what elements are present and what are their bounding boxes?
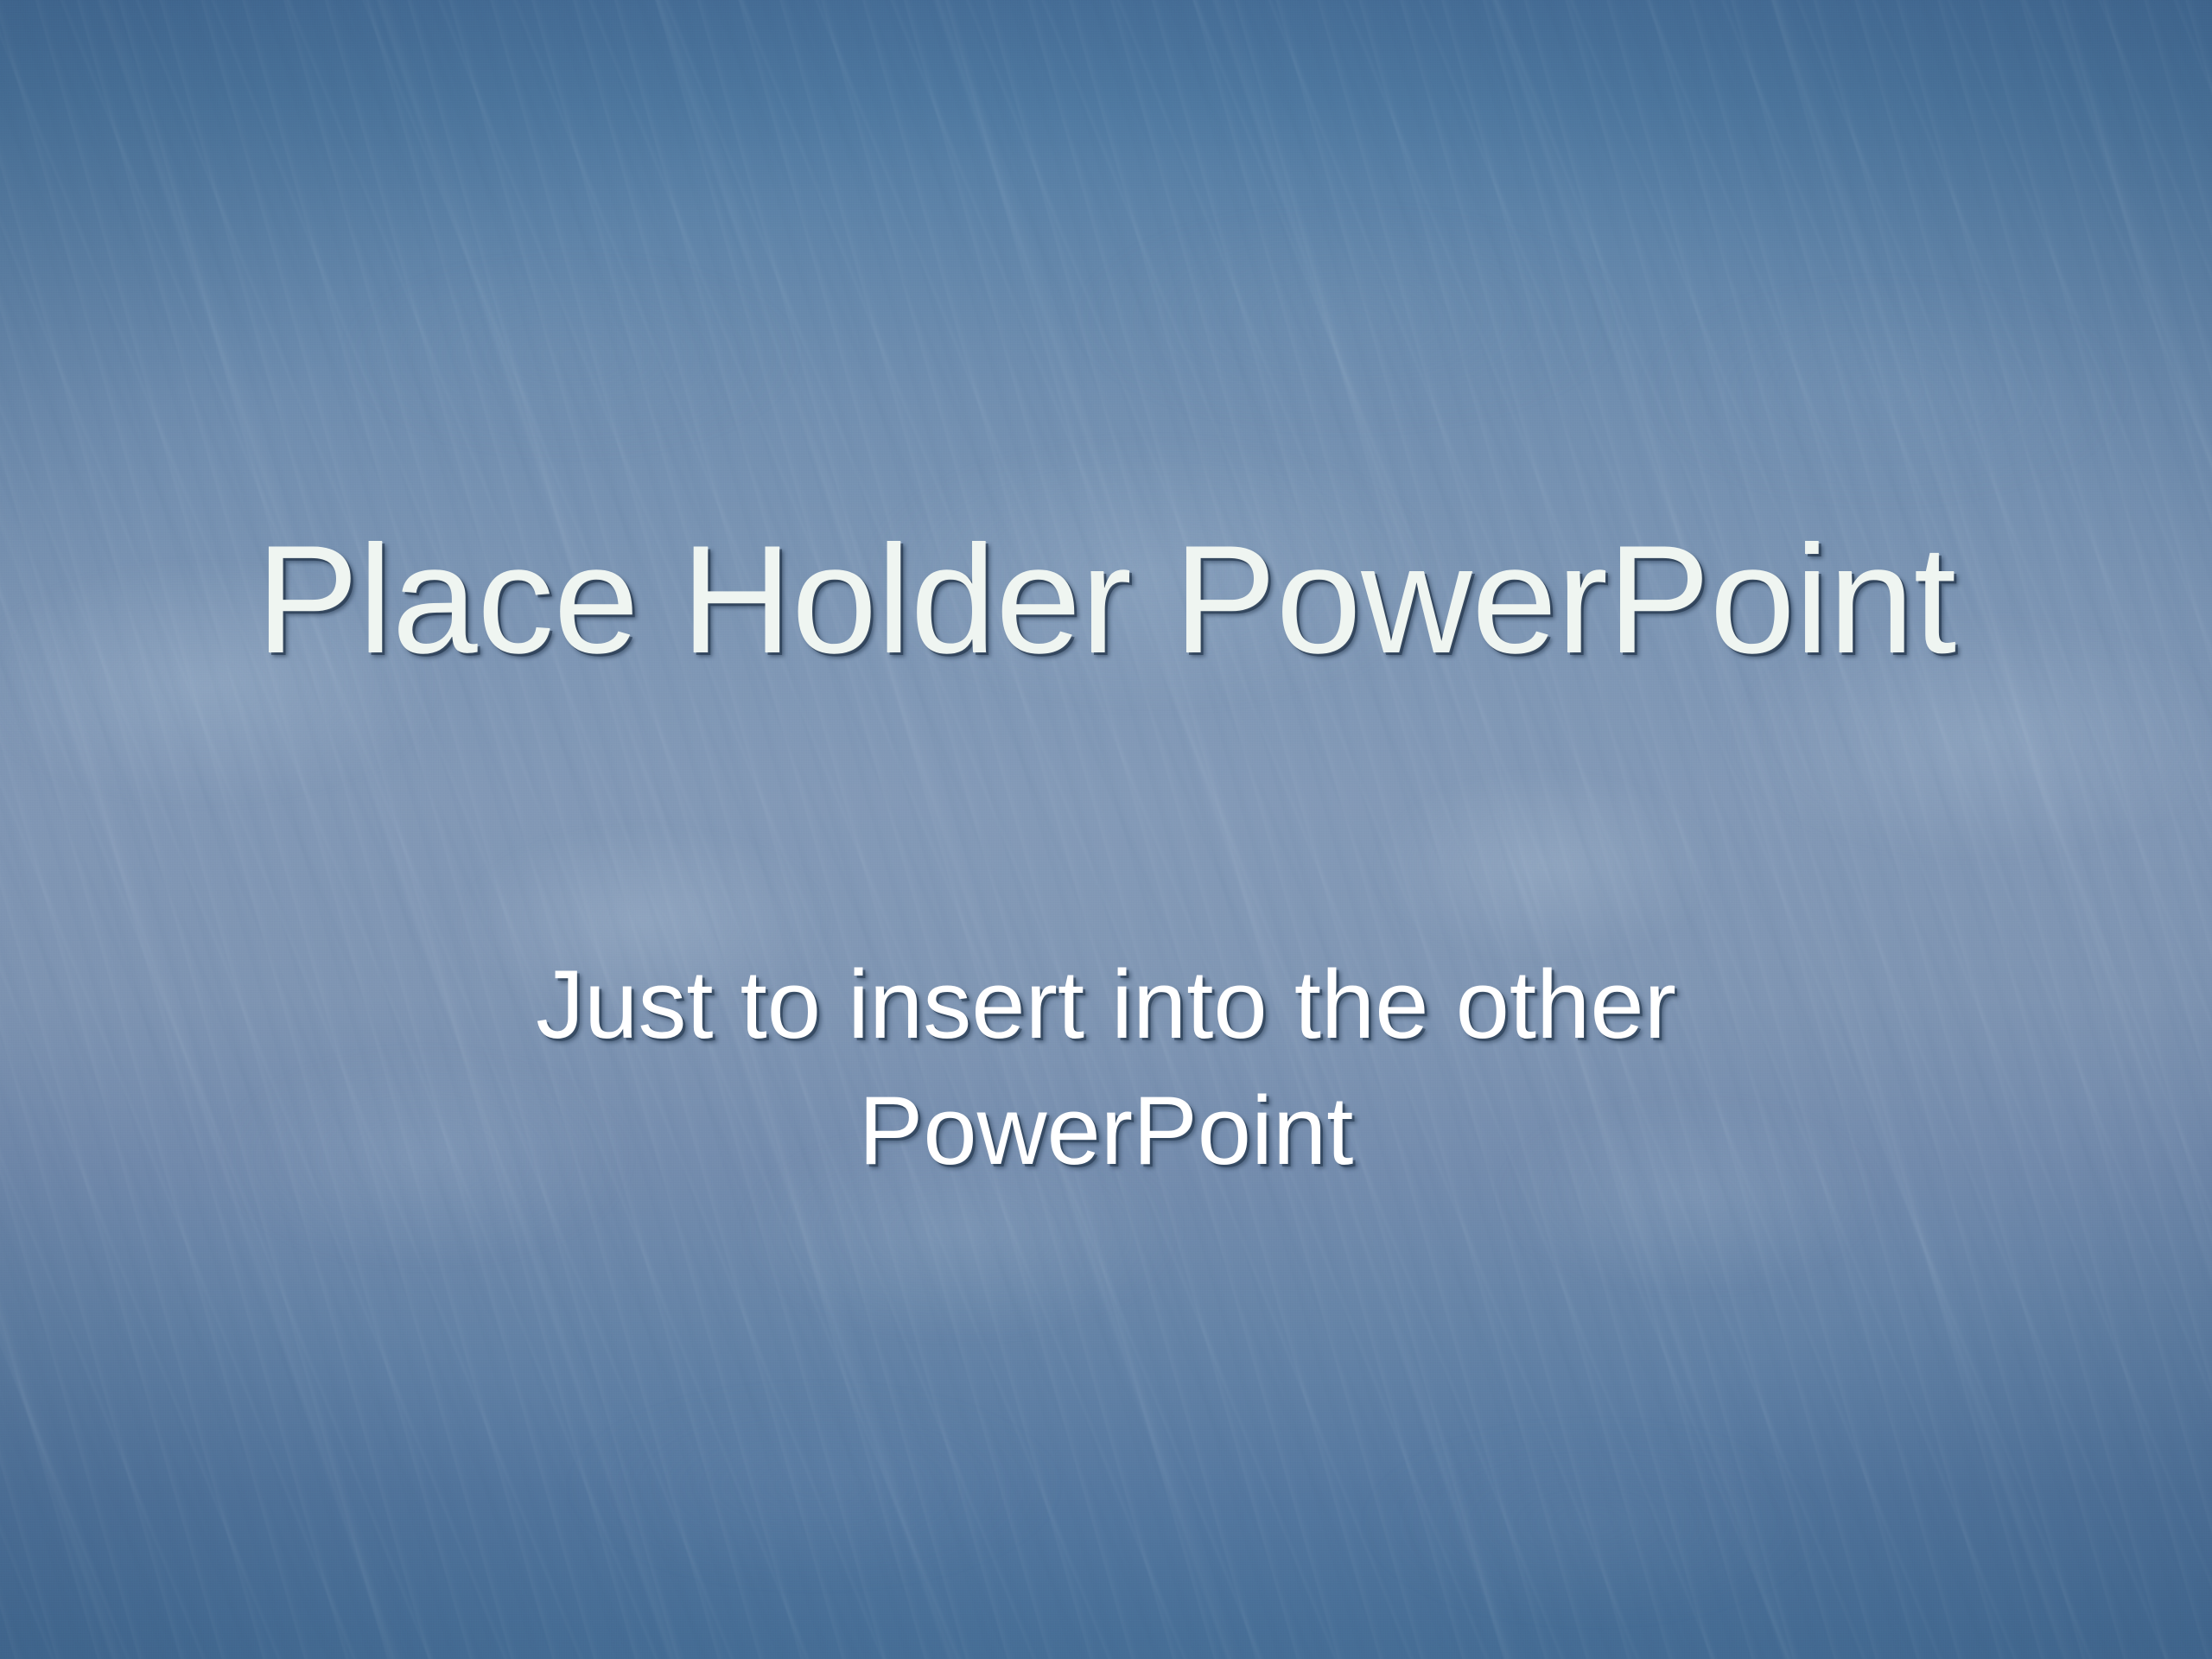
slide-content: Place Holder PowerPoint Just to insert i…	[0, 0, 2212, 1659]
slide-subtitle-line-1: Just to insert into the other	[332, 942, 1880, 1068]
subtitle-placeholder[interactable]: Just to insert into the other PowerPoint	[332, 942, 1880, 1193]
presentation-slide: Place Holder PowerPoint Just to insert i…	[0, 0, 2212, 1659]
slide-title: Place Holder PowerPoint	[221, 518, 1991, 682]
title-placeholder[interactable]: Place Holder PowerPoint	[221, 518, 1991, 682]
slide-subtitle-line-2: PowerPoint	[332, 1068, 1880, 1194]
